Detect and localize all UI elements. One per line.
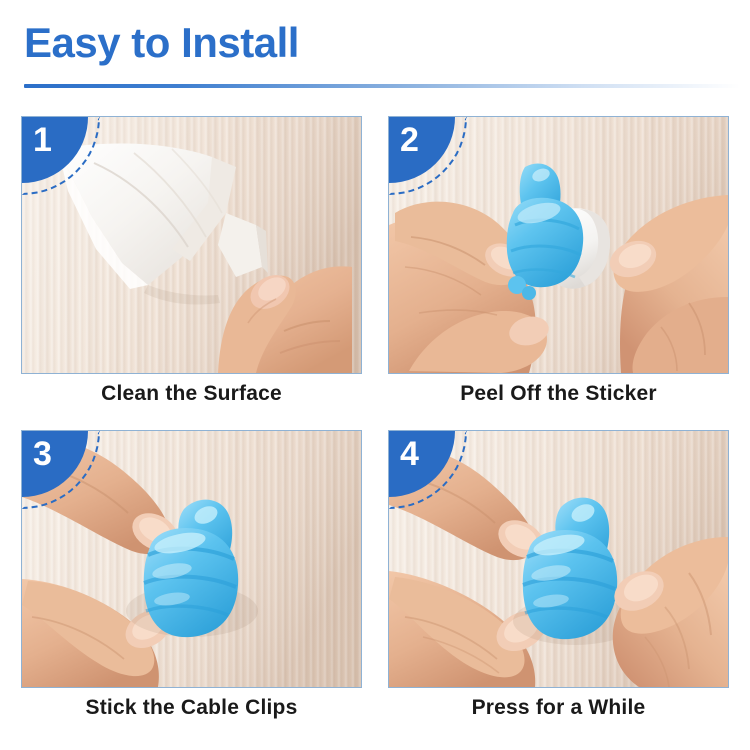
- step-number-4: 4: [400, 437, 419, 471]
- step-photo-2: 2: [388, 116, 729, 374]
- step-number-3: 3: [33, 437, 52, 471]
- step-card-3: 3 Stick the Cable Clips: [21, 430, 362, 747]
- step-caption-4: Press for a While: [388, 696, 729, 720]
- step-caption-1: Clean the Surface: [21, 382, 362, 406]
- step-card-4: 4 Press for a While: [388, 430, 729, 747]
- step-number-2: 2: [400, 123, 419, 157]
- title-divider: [24, 84, 740, 88]
- step-photo-3: 3: [21, 430, 362, 688]
- step-card-2: 2 Peel Off the Sticker: [388, 116, 729, 433]
- step-caption-3: Stick the Cable Clips: [21, 696, 362, 720]
- page-header: Easy to Install: [0, 0, 750, 100]
- install-steps-grid: 1 Clean the Surface: [0, 100, 750, 750]
- step-photo-1: 1: [21, 116, 362, 374]
- step-caption-2: Peel Off the Sticker: [388, 382, 729, 406]
- step-photo-4: 4: [388, 430, 729, 688]
- page-title: Easy to Install: [24, 22, 299, 64]
- step-number-1: 1: [33, 123, 52, 157]
- step-card-1: 1 Clean the Surface: [21, 116, 362, 433]
